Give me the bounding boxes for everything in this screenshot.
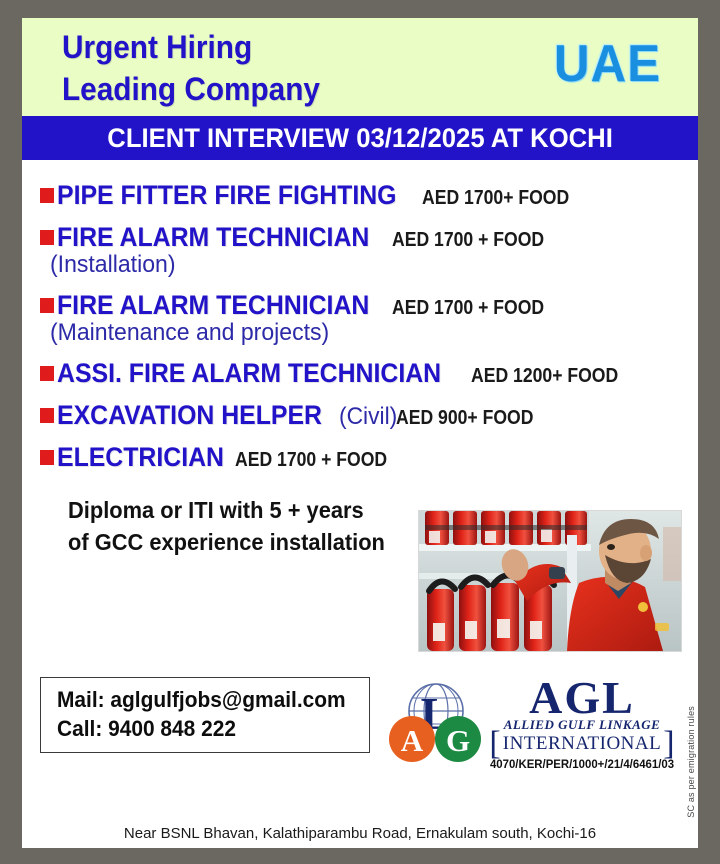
- footer-address: Near BSNL Bhavan, Kalathiparambu Road, E…: [22, 825, 698, 842]
- job-item: ASSI. FIRE ALARM TECHNICIAN AED 1200+ FO…: [40, 358, 688, 389]
- bracket-open: [: [489, 732, 500, 756]
- emigration-rules-note: SC as per emigration rules: [686, 706, 696, 818]
- job-qualifier: (Civil): [339, 403, 397, 431]
- agl-international: INTERNATIONAL: [501, 733, 663, 755]
- agl-logo-mark: L A G: [388, 681, 484, 765]
- job-list: PIPE FITTER FIRE FIGHTING AED 1700+ FOOD…: [40, 180, 688, 473]
- agl-license-number: 4070/KER/PER/1000+/21/4/6461/03: [489, 757, 675, 771]
- job-salary: AED 1700 + FOOD: [392, 229, 544, 252]
- bullet-square-icon: [40, 188, 54, 203]
- agl-international-row: [ INTERNATIONAL ]: [484, 732, 680, 756]
- bracket-close: ]: [663, 732, 674, 756]
- job-item: PIPE FITTER FIRE FIGHTING AED 1700+ FOOD: [40, 180, 688, 211]
- job-salary: AED 1700 + FOOD: [392, 297, 544, 320]
- qualification-line-2: of GCC experience installation: [68, 527, 657, 559]
- bullet-square-icon: [40, 366, 54, 381]
- bullet-square-icon: [40, 408, 54, 423]
- job-title: FIRE ALARM TECHNICIAN: [57, 290, 369, 321]
- job-salary: AED 900+ FOOD: [396, 407, 533, 430]
- job-item: ELECTRICIAN AED 1700 + FOOD: [40, 442, 688, 473]
- job-salary: AED 1700 + FOOD: [235, 449, 387, 472]
- job-title: FIRE ALARM TECHNICIAN: [57, 222, 369, 253]
- contact-box: Mail: aglgulfjobs@gmail.com Call: 9400 8…: [40, 677, 370, 753]
- contact-phone[interactable]: Call: 9400 848 222: [57, 714, 340, 743]
- contact-mail[interactable]: Mail: aglgulfjobs@gmail.com: [57, 685, 340, 714]
- header-banner: Urgent Hiring Leading Company UAE: [22, 18, 698, 116]
- poster-sheet: Urgent Hiring Leading Company UAE CLIENT…: [22, 18, 698, 848]
- agl-brand: AGL: [484, 677, 680, 719]
- poster-frame: Urgent Hiring Leading Company UAE CLIENT…: [0, 0, 720, 864]
- job-title: ASSI. FIRE ALARM TECHNICIAN: [57, 358, 441, 389]
- agl-logo: L A G AGL ALLIED GULF LINKAGE: [388, 677, 678, 777]
- bullet-square-icon: [40, 450, 54, 465]
- interview-banner: CLIENT INTERVIEW 03/12/2025 AT KOCHI: [22, 116, 698, 160]
- job-subtitle: (Installation): [50, 251, 662, 279]
- agl-tagline: ALLIED GULF LINKAGE: [484, 717, 680, 733]
- job-item: EXCAVATION HELPER (Civil) AED 900+ FOOD: [40, 400, 688, 431]
- qualification-note: Diploma or ITI with 5 + years of GCC exp…: [68, 495, 657, 558]
- country-badge: UAE: [554, 34, 661, 94]
- job-item: FIRE ALARM TECHNICIAN AED 1700 + FOOD (I…: [40, 222, 688, 279]
- contact-and-logo-row: Mail: aglgulfjobs@gmail.com Call: 9400 8…: [40, 677, 688, 777]
- bullet-square-icon: [40, 298, 54, 313]
- poster-body: PIPE FITTER FIRE FIGHTING AED 1700+ FOOD…: [22, 162, 698, 848]
- job-subtitle: (Maintenance and projects): [50, 319, 662, 347]
- job-title: ELECTRICIAN: [57, 442, 224, 473]
- svg-text:A: A: [401, 723, 424, 758]
- interview-banner-text: CLIENT INTERVIEW 03/12/2025 AT KOCHI: [107, 123, 613, 154]
- job-item: FIRE ALARM TECHNICIAN AED 1700 + FOOD (M…: [40, 290, 688, 347]
- job-title: PIPE FITTER FIRE FIGHTING: [57, 180, 396, 211]
- job-title: EXCAVATION HELPER: [57, 400, 322, 431]
- job-salary: AED 1700+ FOOD: [422, 187, 569, 210]
- job-salary: AED 1200+ FOOD: [471, 365, 618, 388]
- bullet-square-icon: [40, 230, 54, 245]
- svg-text:G: G: [446, 723, 470, 758]
- agl-logo-text: AGL ALLIED GULF LINKAGE [ INTERNATIONAL …: [484, 677, 680, 771]
- qualification-line-1: Diploma or ITI with 5 + years: [68, 495, 657, 527]
